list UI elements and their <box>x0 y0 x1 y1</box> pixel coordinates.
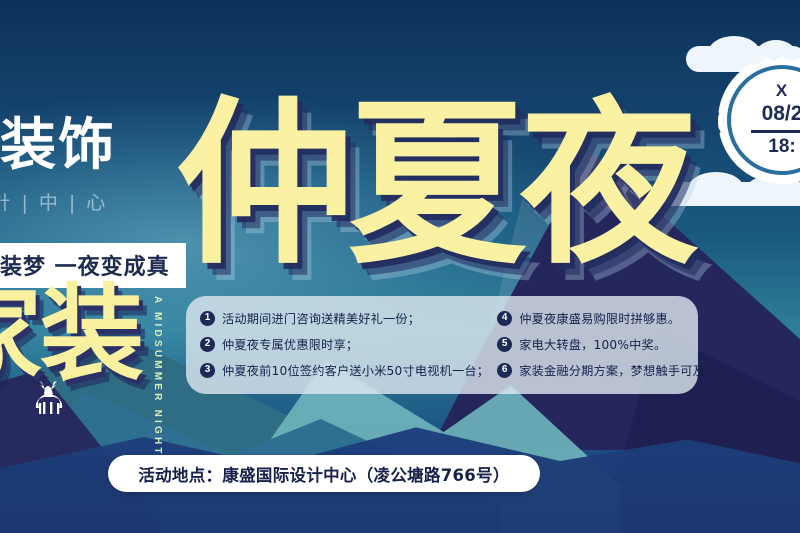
offer-text: 仲夏夜专属优惠限时享； <box>222 335 358 353</box>
offer-text: 家电大转盘，100%中奖。 <box>519 335 666 353</box>
big-word-jiazhuang: 家装 <box>0 282 142 386</box>
date-badge: X 08/2 18: <box>718 56 800 184</box>
offer-item: 1 活动期间进门咨询送精美好礼一份； <box>200 309 489 327</box>
logo-sub-char-2: 中 <box>39 192 65 214</box>
badge-time: 18: <box>768 136 795 158</box>
offer-text: 仲夏夜康盛易购限时拼够惠。 <box>519 309 680 327</box>
offer-number: 5 <box>497 337 512 352</box>
offer-text: 活动期间进门咨询送精美好礼一份； <box>222 309 420 327</box>
brand-logo-main: 盛装饰 <box>0 118 192 174</box>
location-bar: 活动地点：康盛国际设计中心（凌公塘路766号） <box>108 455 540 492</box>
offer-text: 家装金融分期方案，梦想触手可及。 <box>519 361 717 379</box>
location-text: 活动地点：康盛国际设计中心（凌公塘路766号） <box>138 462 509 486</box>
brand-logo-subtitle: 設|計|中|心 <box>0 188 192 215</box>
offer-item: 4 仲夏夜康盛易购限时拼够惠。 <box>497 309 719 327</box>
offers-panel: 1 活动期间进门咨询送精美好礼一份； 2 仲夏夜专属优惠限时享； 3 仲夏夜前1… <box>186 296 698 394</box>
logo-sub-char-1: 計 <box>0 192 17 214</box>
offer-number: 1 <box>200 311 215 326</box>
offer-text: 仲夏夜前10位签约客户送小米50寸电视机一台； <box>222 361 489 379</box>
offer-number: 6 <box>497 363 512 378</box>
logo-sub-char-3: 心 <box>86 192 112 214</box>
badge-content: X 08/2 18: <box>727 65 800 175</box>
offer-item: 3 仲夏夜前10位签约客户送小米50寸电视机一台； <box>200 361 489 379</box>
headline-title: 仲夏夜 <box>176 96 692 274</box>
offer-number: 3 <box>200 363 215 378</box>
offer-number: 2 <box>200 337 215 352</box>
brand-logo: 盛装饰 設|計|中|心 <box>0 118 192 215</box>
offer-item: 5 家电大转盘，100%中奖。 <box>497 335 719 353</box>
badge-date: 08/2 <box>762 102 800 126</box>
badge-top-label: X <box>776 82 788 101</box>
badge-divider <box>751 130 800 133</box>
promo-poster: 盛装饰 設|計|中|心 装梦 一夜变成真 家装 A MIDSUMMER NIGH… <box>0 0 800 533</box>
vertical-english-text: A MIDSUMMER NIGHT <box>152 296 163 457</box>
offers-columns: 1 活动期间进门咨询送精美好礼一份； 2 仲夏夜专属优惠限时享； 3 仲夏夜前1… <box>186 296 698 394</box>
logo-sub-sep-1: | <box>21 192 34 214</box>
offer-item: 2 仲夏夜专属优惠限时享； <box>200 335 489 353</box>
offers-column-right: 4 仲夏夜康盛易购限时拼够惠。 5 家电大转盘，100%中奖。 6 家装金融分期… <box>497 309 719 394</box>
offers-column-left: 1 活动期间进门咨询送精美好礼一份； 2 仲夏夜专属优惠限时享； 3 仲夏夜前1… <box>200 309 489 394</box>
logo-sub-sep-2: | <box>69 192 82 214</box>
offer-number: 4 <box>497 311 512 326</box>
offer-item: 6 家装金融分期方案，梦想触手可及。 <box>497 361 719 379</box>
